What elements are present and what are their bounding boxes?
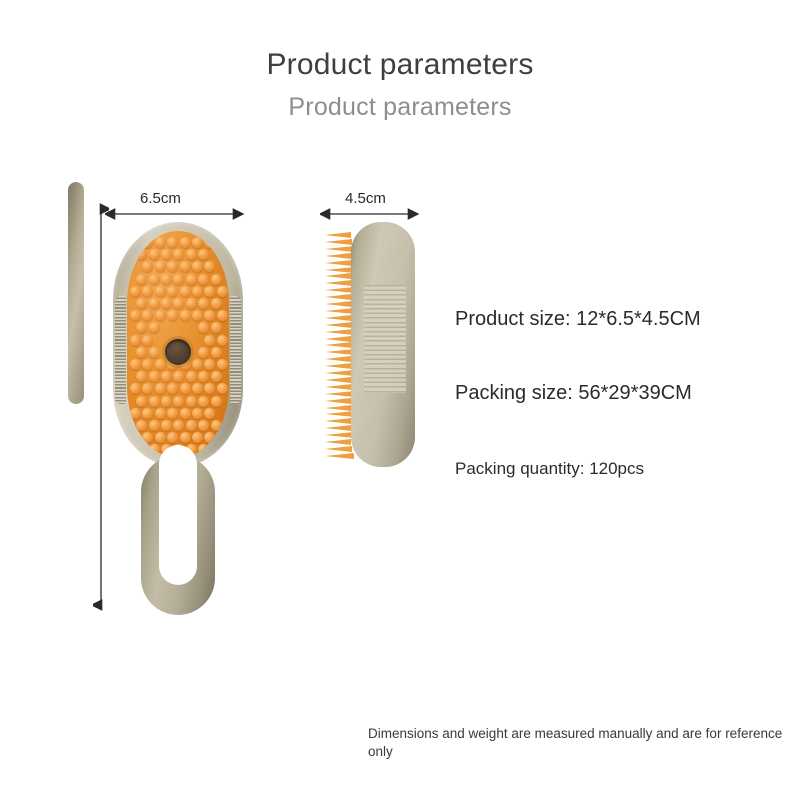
- spec-packing-quantity: Packing quantity: 120pcs: [455, 459, 644, 479]
- spec-product-size: Product size: 12*6.5*4.5CM: [455, 308, 701, 331]
- dimension-label-front-width: 6.5cm: [140, 190, 181, 207]
- grip-ribs-right: [230, 296, 241, 404]
- page-title: Product parameters: [0, 48, 800, 82]
- brush-handle-loop-side: [68, 182, 84, 404]
- brush-shell-side: [351, 222, 415, 467]
- product-parameters-page: Product parameters Product parameters 6.…: [0, 0, 800, 800]
- pet-brush-side-view: [325, 222, 415, 467]
- grip-ribs-side: [364, 285, 406, 393]
- pet-brush-front-view: [113, 222, 243, 467]
- brush-handle-loop-front: [141, 455, 215, 615]
- spec-packing-size: Packing size: 56*29*39CM: [455, 382, 692, 405]
- height-dimension-arrow-front: [93, 200, 109, 620]
- center-spray-hole: [165, 339, 191, 365]
- measurement-disclaimer: Dimensions and weight are measured manua…: [368, 725, 788, 761]
- grip-ribs-left: [115, 296, 126, 404]
- width-dimension-arrow-side: [320, 206, 425, 222]
- dimension-label-side-width: 4.5cm: [345, 190, 386, 207]
- handle-loop-opening: [159, 445, 197, 585]
- width-dimension-arrow-front: [105, 206, 255, 222]
- page-subtitle: Product parameters: [0, 93, 800, 122]
